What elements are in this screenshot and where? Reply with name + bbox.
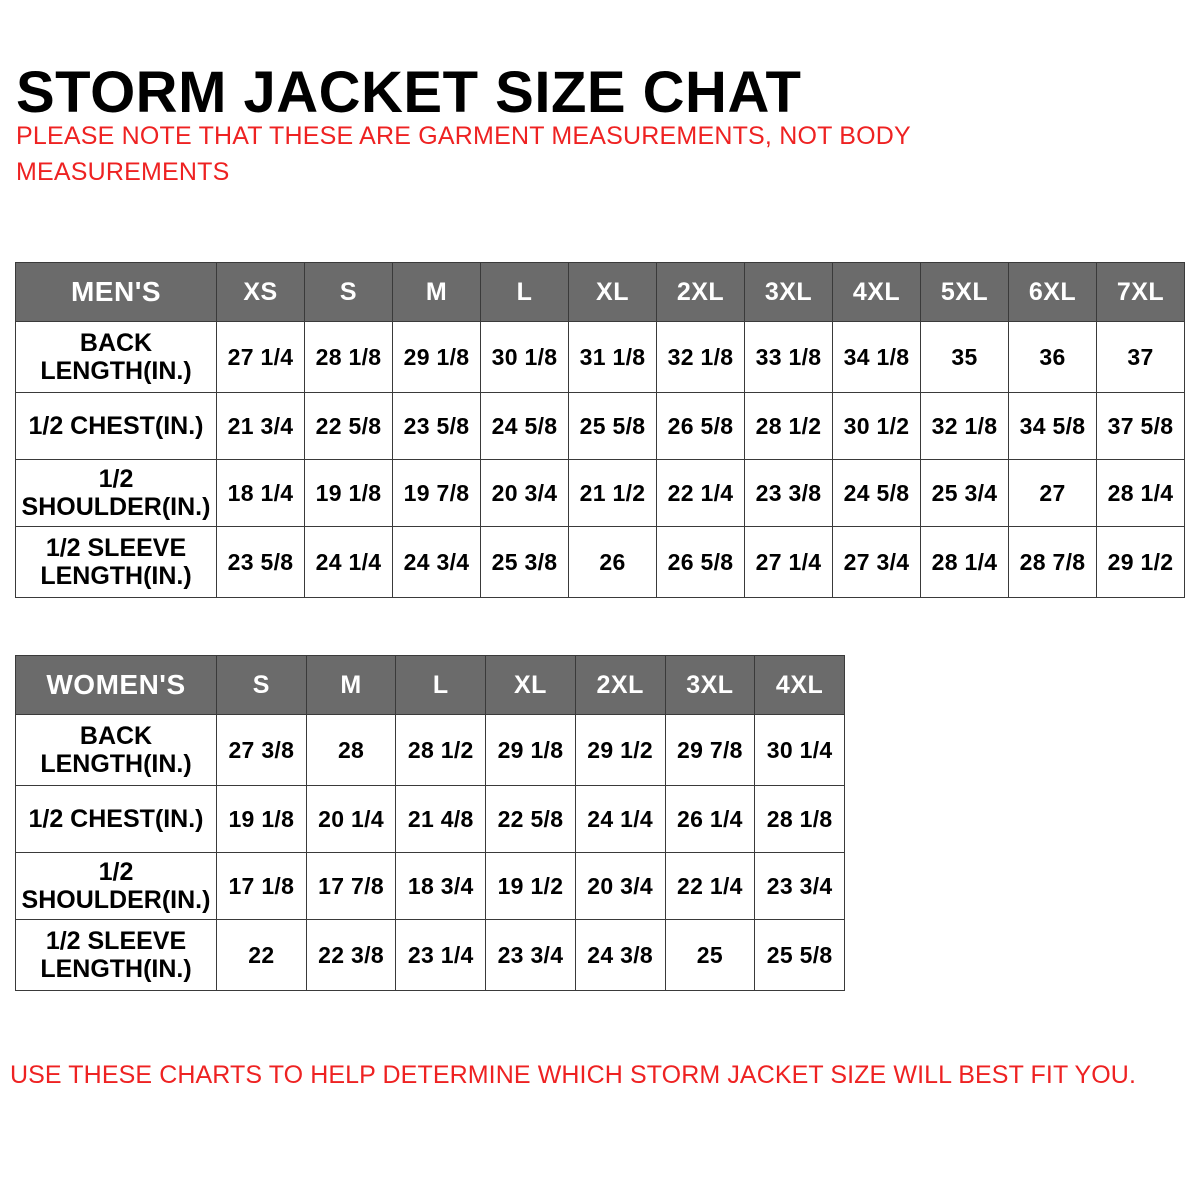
table-row: 1/2 SLEEVELENGTH(IN.)2222 3/823 1/423 3/… xyxy=(16,920,845,991)
measurement-cell: 32 1/8 xyxy=(657,322,745,393)
mens-column-header-l: L xyxy=(481,263,569,322)
measurement-cell: 24 5/8 xyxy=(481,393,569,460)
womens-column-header-s: S xyxy=(217,656,307,715)
measurement-cell: 25 3/4 xyxy=(921,460,1009,527)
measurement-cell: 19 1/8 xyxy=(217,786,307,853)
measurement-cell: 27 xyxy=(1009,460,1097,527)
womens-column-header-m: M xyxy=(306,656,396,715)
measurement-cell: 29 1/2 xyxy=(575,715,665,786)
measurement-cell: 36 xyxy=(1009,322,1097,393)
table-row: 1/2 SHOULDER(IN.)17 1/817 7/818 3/419 1/… xyxy=(16,853,845,920)
measurement-cell: 25 5/8 xyxy=(755,920,845,991)
measurement-cell: 22 xyxy=(217,920,307,991)
measurement-cell: 35 xyxy=(921,322,1009,393)
table-row: BACKLENGTH(IN.)27 3/82828 1/229 1/829 1/… xyxy=(16,715,845,786)
note-top-text: PLEASE NOTE THAT THESE ARE GARMENT MEASU… xyxy=(16,118,976,191)
measurement-cell: 17 7/8 xyxy=(306,853,396,920)
measurement-cell: 28 7/8 xyxy=(1009,527,1097,598)
measurement-cell: 27 1/4 xyxy=(217,322,305,393)
page-title: STORM JACKET SIZE CHAT xyxy=(16,63,801,124)
measurement-cell: 22 5/8 xyxy=(305,393,393,460)
measurement-cell: 21 1/2 xyxy=(569,460,657,527)
measurement-cell: 29 7/8 xyxy=(665,715,755,786)
womens-column-header-2xl: 2XL xyxy=(575,656,665,715)
measurement-cell: 23 5/8 xyxy=(217,527,305,598)
mens-column-header-s: S xyxy=(305,263,393,322)
mens-row-label: 1/2 SHOULDER(IN.) xyxy=(16,460,217,527)
mens-row-label: 1/2 SLEEVELENGTH(IN.) xyxy=(16,527,217,598)
womens-size-table: WOMEN'SSMLXL2XL3XL4XL BACKLENGTH(IN.)27 … xyxy=(15,655,845,991)
mens-row-label: 1/2 CHEST(IN.) xyxy=(16,393,217,460)
mens-column-header-xl: XL xyxy=(569,263,657,322)
measurement-cell: 23 3/8 xyxy=(745,460,833,527)
womens-column-header-3xl: 3XL xyxy=(665,656,755,715)
womens-column-header-4xl: 4XL xyxy=(755,656,845,715)
measurement-cell: 19 1/2 xyxy=(486,853,576,920)
mens-column-header-2xl: 2XL xyxy=(657,263,745,322)
mens-column-header-m: M xyxy=(393,263,481,322)
measurement-cell: 21 3/4 xyxy=(217,393,305,460)
measurement-cell: 18 3/4 xyxy=(396,853,486,920)
mens-corner-header: MEN'S xyxy=(16,263,217,322)
measurement-cell: 22 1/4 xyxy=(657,460,745,527)
mens-table-head: MEN'SXSSMLXL2XL3XL4XL5XL6XL7XL xyxy=(16,263,1185,322)
measurement-cell: 20 1/4 xyxy=(306,786,396,853)
measurement-cell: 22 1/4 xyxy=(665,853,755,920)
measurement-cell: 28 1/8 xyxy=(755,786,845,853)
womens-row-label: 1/2 SHOULDER(IN.) xyxy=(16,853,217,920)
mens-column-header-4xl: 4XL xyxy=(833,263,921,322)
measurement-cell: 28 1/8 xyxy=(305,322,393,393)
measurement-cell: 24 5/8 xyxy=(833,460,921,527)
measurement-cell: 26 5/8 xyxy=(657,393,745,460)
measurement-cell: 37 5/8 xyxy=(1097,393,1185,460)
table-row: 1/2 SHOULDER(IN.)18 1/419 1/819 7/820 3/… xyxy=(16,460,1185,527)
measurement-cell: 23 5/8 xyxy=(393,393,481,460)
mens-row-label: BACKLENGTH(IN.) xyxy=(16,322,217,393)
measurement-cell: 22 5/8 xyxy=(486,786,576,853)
measurement-cell: 29 1/2 xyxy=(1097,527,1185,598)
measurement-cell: 27 3/8 xyxy=(217,715,307,786)
measurement-cell: 20 3/4 xyxy=(575,853,665,920)
mens-column-header-7xl: 7XL xyxy=(1097,263,1185,322)
measurement-cell: 25 5/8 xyxy=(569,393,657,460)
measurement-cell: 18 1/4 xyxy=(217,460,305,527)
womens-table-body: BACKLENGTH(IN.)27 3/82828 1/229 1/829 1/… xyxy=(16,715,845,991)
womens-corner-header: WOMEN'S xyxy=(16,656,217,715)
mens-table-body: BACKLENGTH(IN.)27 1/428 1/829 1/830 1/83… xyxy=(16,322,1185,598)
measurement-cell: 27 3/4 xyxy=(833,527,921,598)
measurement-cell: 28 1/4 xyxy=(921,527,1009,598)
measurement-cell: 24 1/4 xyxy=(305,527,393,598)
measurement-cell: 25 3/8 xyxy=(481,527,569,598)
mens-header-row: MEN'SXSSMLXL2XL3XL4XL5XL6XL7XL xyxy=(16,263,1185,322)
table-row: 1/2 CHEST(IN.)19 1/820 1/421 4/822 5/824… xyxy=(16,786,845,853)
measurement-cell: 30 1/2 xyxy=(833,393,921,460)
measurement-cell: 26 5/8 xyxy=(657,527,745,598)
measurement-cell: 34 5/8 xyxy=(1009,393,1097,460)
size-chart-page: STORM JACKET SIZE CHAT PLEASE NOTE THAT … xyxy=(0,0,1200,1200)
measurement-cell: 30 1/8 xyxy=(481,322,569,393)
womens-column-header-xl: XL xyxy=(486,656,576,715)
measurement-cell: 20 3/4 xyxy=(481,460,569,527)
measurement-cell: 24 3/8 xyxy=(575,920,665,991)
measurement-cell: 27 1/4 xyxy=(745,527,833,598)
measurement-cell: 32 1/8 xyxy=(921,393,1009,460)
womens-column-header-l: L xyxy=(396,656,486,715)
measurement-cell: 17 1/8 xyxy=(217,853,307,920)
mens-column-header-3xl: 3XL xyxy=(745,263,833,322)
measurement-cell: 34 1/8 xyxy=(833,322,921,393)
measurement-cell: 24 1/4 xyxy=(575,786,665,853)
measurement-cell: 19 7/8 xyxy=(393,460,481,527)
measurement-cell: 29 1/8 xyxy=(393,322,481,393)
measurement-cell: 26 1/4 xyxy=(665,786,755,853)
measurement-cell: 21 4/8 xyxy=(396,786,486,853)
measurement-cell: 24 3/4 xyxy=(393,527,481,598)
womens-header-row: WOMEN'SSMLXL2XL3XL4XL xyxy=(16,656,845,715)
measurement-cell: 37 xyxy=(1097,322,1185,393)
measurement-cell: 19 1/8 xyxy=(305,460,393,527)
measurement-cell: 22 3/8 xyxy=(306,920,396,991)
measurement-cell: 28 xyxy=(306,715,396,786)
measurement-cell: 31 1/8 xyxy=(569,322,657,393)
mens-size-table: MEN'SXSSMLXL2XL3XL4XL5XL6XL7XL BACKLENGT… xyxy=(15,262,1185,598)
table-row: BACKLENGTH(IN.)27 1/428 1/829 1/830 1/83… xyxy=(16,322,1185,393)
measurement-cell: 30 1/4 xyxy=(755,715,845,786)
table-row: 1/2 CHEST(IN.)21 3/422 5/823 5/824 5/825… xyxy=(16,393,1185,460)
measurement-cell: 26 xyxy=(569,527,657,598)
mens-column-header-xs: XS xyxy=(217,263,305,322)
measurement-cell: 23 3/4 xyxy=(486,920,576,991)
table-row: 1/2 SLEEVELENGTH(IN.)23 5/824 1/424 3/42… xyxy=(16,527,1185,598)
womens-row-label: 1/2 CHEST(IN.) xyxy=(16,786,217,853)
measurement-cell: 23 3/4 xyxy=(755,853,845,920)
measurement-cell: 33 1/8 xyxy=(745,322,833,393)
womens-table-head: WOMEN'SSMLXL2XL3XL4XL xyxy=(16,656,845,715)
measurement-cell: 23 1/4 xyxy=(396,920,486,991)
womens-row-label: BACKLENGTH(IN.) xyxy=(16,715,217,786)
note-bottom-text: USE THESE CHARTS TO HELP DETERMINE WHICH… xyxy=(10,1058,1190,1093)
measurement-cell: 28 1/2 xyxy=(396,715,486,786)
measurement-cell: 29 1/8 xyxy=(486,715,576,786)
mens-column-header-6xl: 6XL xyxy=(1009,263,1097,322)
measurement-cell: 28 1/4 xyxy=(1097,460,1185,527)
measurement-cell: 28 1/2 xyxy=(745,393,833,460)
womens-row-label: 1/2 SLEEVELENGTH(IN.) xyxy=(16,920,217,991)
measurement-cell: 25 xyxy=(665,920,755,991)
mens-column-header-5xl: 5XL xyxy=(921,263,1009,322)
